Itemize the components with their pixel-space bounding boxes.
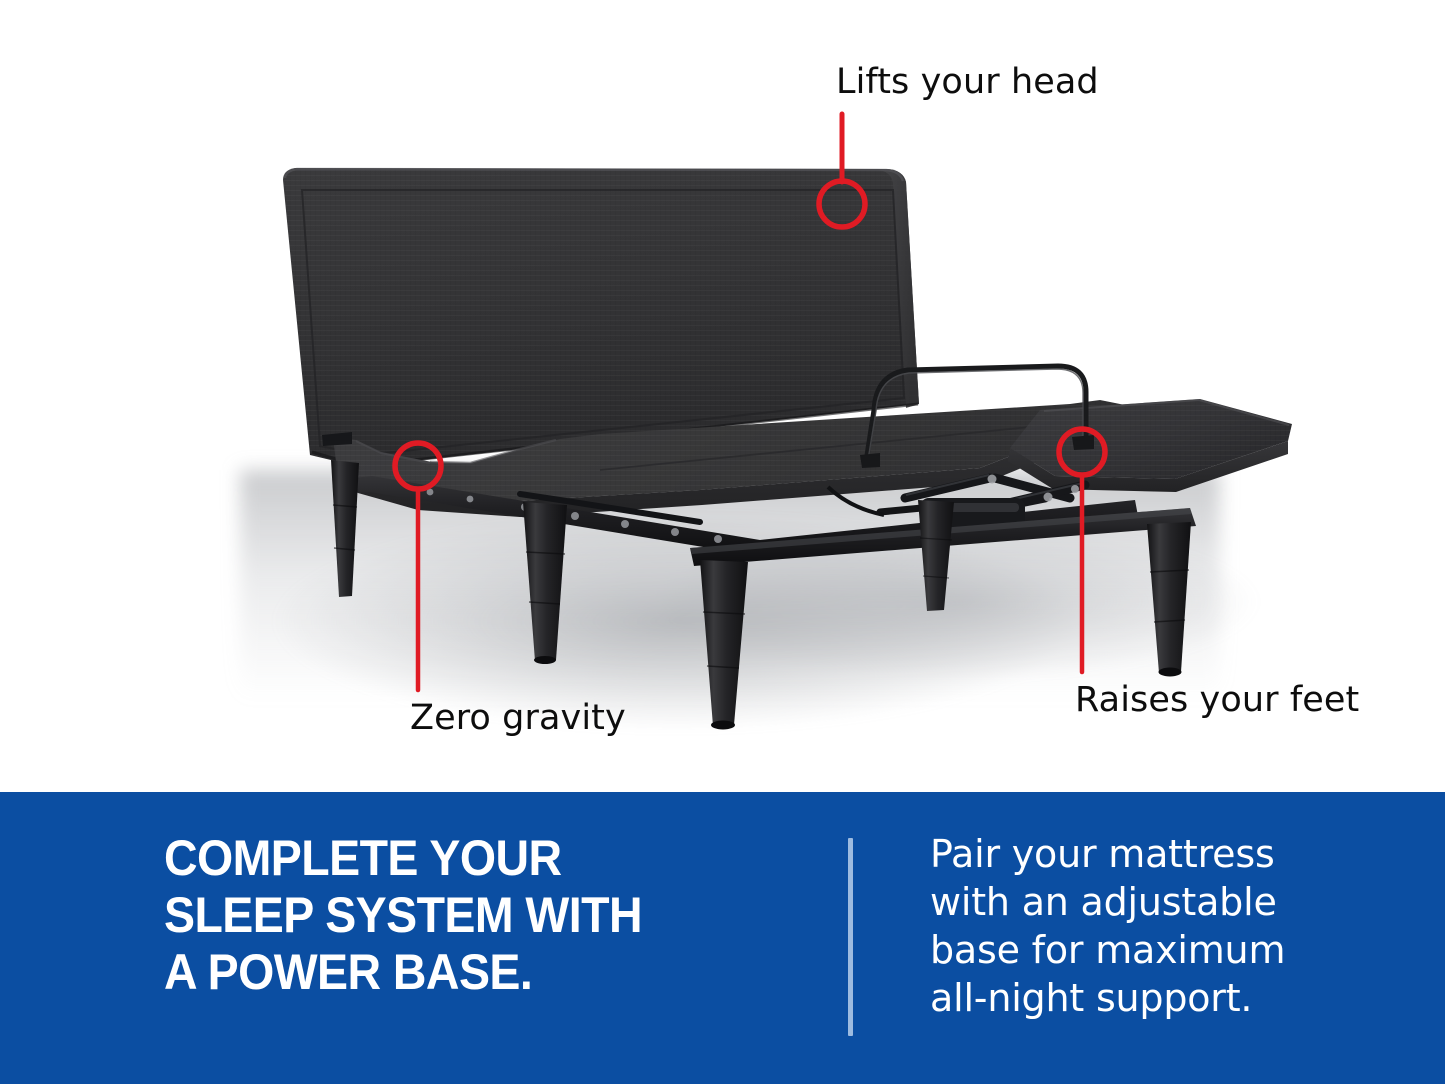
retainer-socket-left xyxy=(860,453,880,468)
leg-lumbar-left xyxy=(523,502,567,664)
banner-subcopy: Pair your mattress with an adjustable ba… xyxy=(930,830,1350,1022)
promo-banner-image: Lifts your head Zero gravity Raises your… xyxy=(0,0,1445,1084)
retainer-socket-right xyxy=(1072,435,1094,450)
leg-foot-right xyxy=(1147,522,1191,677)
promo-banner: COMPLETE YOUR SLEEP SYSTEM WITH A POWER … xyxy=(0,792,1445,1084)
callout-label-lifts-head: Lifts your head xyxy=(836,62,1099,102)
callout-label-raises-feet: Raises your feet xyxy=(1075,680,1359,720)
headline-line-2: SLEEP SYSTEM WITH xyxy=(164,887,759,944)
banner-headline: COMPLETE YOUR SLEEP SYSTEM WITH A POWER … xyxy=(164,830,759,1001)
leg-center-front xyxy=(700,560,748,730)
vertical-divider xyxy=(848,838,853,1036)
leg-mid-rear xyxy=(918,500,954,611)
hero-product-photo: Lifts your head Zero gravity Raises your… xyxy=(0,0,1445,792)
leg-head-left xyxy=(331,460,359,597)
headline-line-1: COMPLETE YOUR xyxy=(164,830,759,887)
headline-line-3: A POWER BASE. xyxy=(164,944,759,1001)
adjustable-bed-base-illustration xyxy=(0,0,1445,792)
callout-label-zero-gravity: Zero gravity xyxy=(410,698,626,738)
foot-lift-platform xyxy=(1008,399,1292,492)
